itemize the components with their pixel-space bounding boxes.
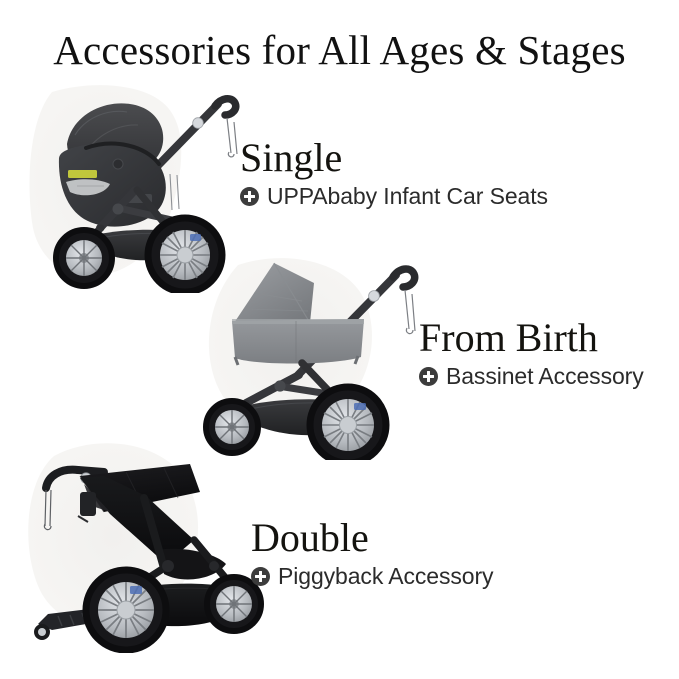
row-title-single: Single [240, 138, 548, 179]
plus-circle-icon [240, 187, 259, 206]
row-accessory-double: Piggyback Accessory [251, 563, 493, 590]
row-accessory-single: UPPAbaby Infant Car Seats [240, 183, 548, 210]
front-wheel [56, 230, 112, 286]
row-accessory-from-birth: Bassinet Accessory [419, 363, 644, 390]
row-accessory-label-single: UPPAbaby Infant Car Seats [267, 183, 548, 210]
row-title-from-birth: From Birth [419, 318, 644, 359]
plus-circle-icon [419, 367, 438, 386]
accessories-poster: Accessories for All Ages & Stages [0, 0, 679, 679]
rear-wheel [86, 570, 166, 650]
page-title: Accessories for All Ages & Stages [0, 26, 679, 74]
plus-circle-icon [251, 567, 270, 586]
product-image-double [18, 418, 288, 653]
label-block-single: Single UPPAbaby Infant Car Seats [240, 138, 548, 210]
rear-wheel [310, 387, 386, 460]
row-title-double: Double [251, 518, 493, 559]
label-block-from-birth: From Birth Bassinet Accessory [419, 318, 644, 390]
label-block-double: Double Piggyback Accessory [251, 518, 493, 590]
row-accessory-label-from-birth: Bassinet Accessory [446, 363, 644, 390]
row-accessory-label-double: Piggyback Accessory [278, 563, 493, 590]
